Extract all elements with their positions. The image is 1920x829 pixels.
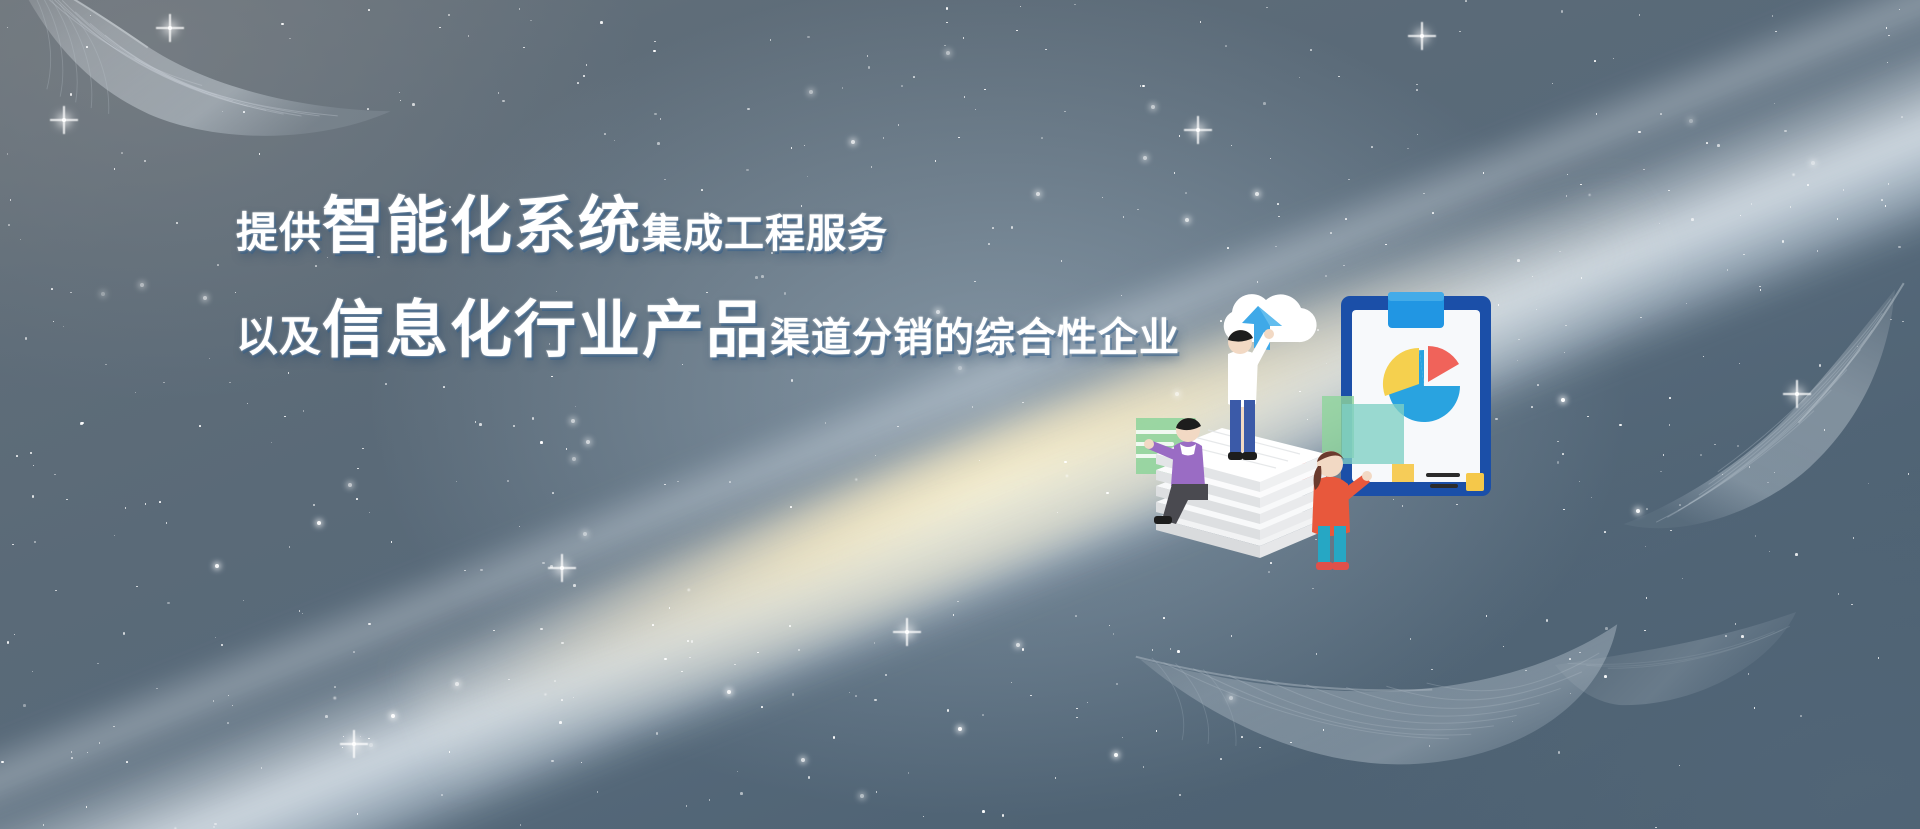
- headline-line1-emphasis: 智能化系统: [322, 196, 642, 258]
- headline-line1-prefix: 提供: [236, 212, 322, 254]
- headline-line-2: 以及信息化行业产品渠道分销的综合性企业: [236, 300, 1236, 362]
- sky-tint-overlay: [0, 0, 1920, 829]
- headline-block: 提供智能化系统集成工程服务 以及信息化行业产品渠道分销的综合性企业: [236, 196, 1236, 362]
- headline-line2-suffix: 渠道分销的综合性企业: [770, 318, 1180, 358]
- headline-line2-emphasis: 信息化行业产品: [322, 300, 770, 362]
- business-analytics-illustration: [1136, 268, 1502, 570]
- headline-line-1: 提供智能化系统集成工程服务: [236, 196, 1236, 258]
- headline-line2-prefix: 以及: [236, 316, 322, 358]
- headline-line1-suffix: 集成工程服务: [642, 214, 888, 254]
- hero-banner: 提供智能化系统集成工程服务 以及信息化行业产品渠道分销的综合性企业: [0, 0, 1920, 829]
